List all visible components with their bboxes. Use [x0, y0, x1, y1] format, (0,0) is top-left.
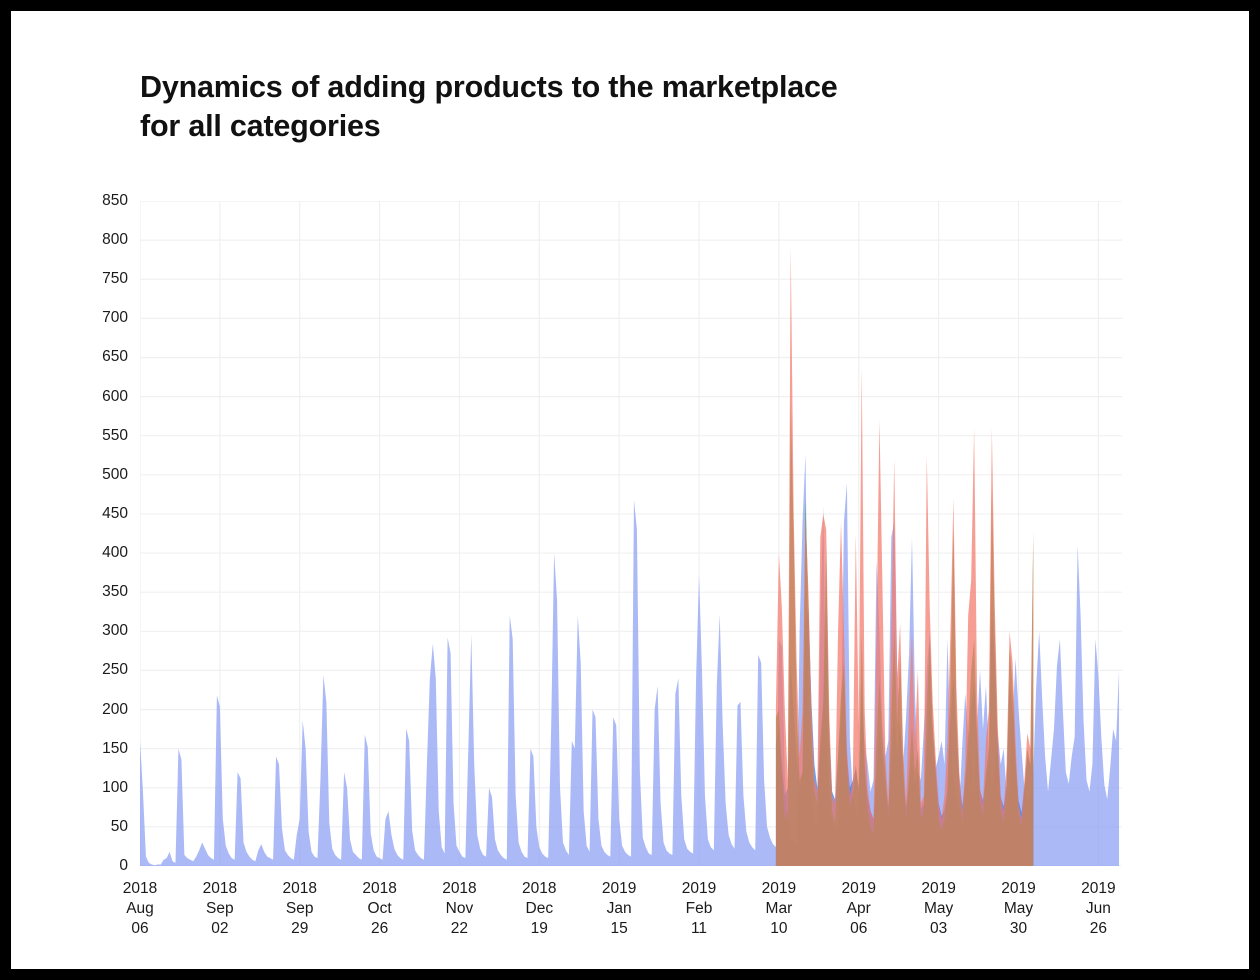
- y-axis-tick-label: 850: [102, 192, 128, 210]
- y-axis-tick-label: 500: [102, 466, 128, 484]
- x-axis: 2018 Aug 062018 Sep 022018 Sep 292018 Oc…: [140, 879, 1122, 969]
- x-axis-tick-label: 2018 Sep 02: [203, 879, 237, 938]
- y-axis-tick-label: 100: [102, 779, 128, 797]
- y-axis-tick-label: 300: [102, 622, 128, 640]
- x-axis-tick-label: 2019 Feb 11: [682, 879, 716, 938]
- y-axis-tick-label: 700: [102, 309, 128, 327]
- chart-frame: Dynamics of adding products to the marke…: [11, 11, 1249, 969]
- y-axis-tick-label: 50: [111, 818, 128, 836]
- x-axis-tick-label: 2019 May 03: [921, 879, 955, 938]
- page-title: Dynamics of adding products to the marke…: [140, 68, 1080, 146]
- x-axis-tick-label: 2019 Jan 15: [602, 879, 636, 938]
- plot-area: [140, 201, 1122, 866]
- chart-container: 0501001502002503003504004505005506006507…: [140, 179, 1140, 879]
- y-axis-tick-label: 350: [102, 583, 128, 601]
- y-axis-tick-label: 400: [102, 544, 128, 562]
- series-areas: [140, 201, 1122, 866]
- x-axis-tick-label: 2018 Sep 29: [282, 879, 316, 938]
- y-axis-tick-label: 600: [102, 388, 128, 406]
- y-axis-tick-label: 450: [102, 505, 128, 523]
- x-axis-tick-label: 2019 Apr 06: [842, 879, 876, 938]
- y-axis-tick-label: 800: [102, 231, 128, 249]
- y-axis-tick-label: 200: [102, 701, 128, 719]
- x-axis-tick-label: 2018 Aug 06: [123, 879, 157, 938]
- x-axis-tick-label: 2018 Nov 22: [442, 879, 476, 938]
- x-axis-tick-label: 2018 Oct 26: [362, 879, 396, 938]
- x-axis-tick-label: 2019 May 30: [1001, 879, 1035, 938]
- y-axis-tick-label: 750: [102, 270, 128, 288]
- y-axis-tick-label: 0: [119, 857, 128, 875]
- x-axis-tick-label: 2019 Mar 10: [762, 879, 796, 938]
- y-axis-tick-label: 650: [102, 348, 128, 366]
- y-axis-tick-label: 150: [102, 740, 128, 758]
- y-axis-tick-label: 550: [102, 427, 128, 445]
- x-axis-tick-label: 2019 Jun 26: [1081, 879, 1115, 938]
- x-axis-tick-label: 2018 Dec 19: [522, 879, 556, 938]
- y-axis-tick-label: 250: [102, 661, 128, 679]
- y-axis: 0501001502002503003504004505005506006507…: [80, 201, 128, 866]
